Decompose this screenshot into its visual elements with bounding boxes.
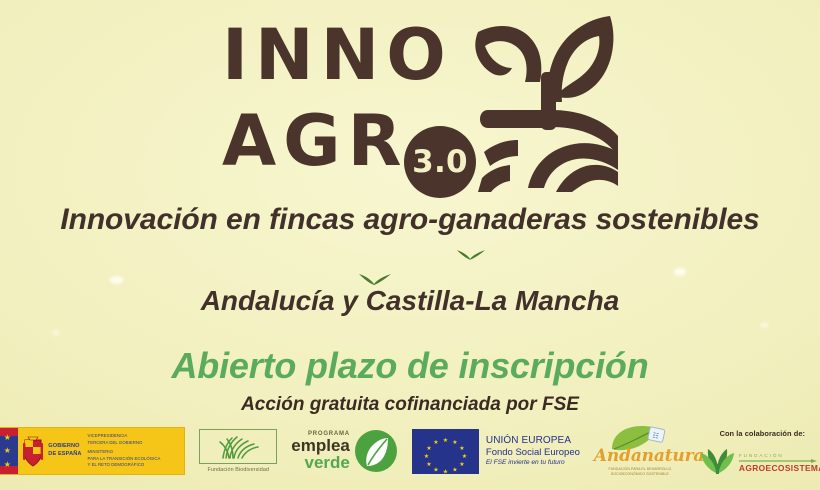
innoagro-logo: INNO AGR 3.0	[0, 8, 820, 198]
grass-icon	[215, 435, 261, 459]
logo-fundacion-agroecosistema: Con la colaboración de: FUNDACIÓN AGROEC…	[700, 429, 820, 474]
agroecosistema-name: AGROECOSISTEMA	[739, 463, 820, 474]
logo-fundacion-biodiversidad: Fundación Biodiversidad	[199, 429, 277, 473]
gobierno-vicepresidencia: VICEPRESIDENCIA TERCERA DEL GOBIERNO	[88, 433, 161, 446]
spain-flag-icon: ★ ★ ★	[0, 428, 18, 474]
logo-gobierno-de-espana: ★ ★ ★ GOBIERNO DE ESPAÑA	[0, 427, 185, 475]
biodiversidad-caption: Fundación Biodiversidad	[199, 467, 277, 473]
logo-union-europea: ★ ★ ★ ★ ★ ★ ★ ★ ★ ★ ★ ★ UN	[412, 429, 580, 474]
sprout-furrow-icon	[468, 10, 620, 192]
sponsor-logo-bar: ★ ★ ★ GOBIERNO DE ESPAÑA	[0, 416, 820, 486]
svg-text:★: ★	[426, 445, 431, 452]
gobierno-ministerio: MINISTERIO PARA LA TRANSICIÓN ECOLÓGICA …	[88, 449, 161, 468]
svg-text:★: ★	[452, 466, 457, 473]
andanatura-name: Andanatura	[594, 448, 686, 465]
decorative-dot	[52, 330, 60, 336]
eu-line-union-europea: UNIÓN EUROPEA	[486, 435, 580, 447]
collaboration-label: Con la colaboración de:	[700, 429, 820, 438]
andanatura-subtitle: FUNDACIÓN PARA EL DESARROLLO SOCIOECONÓM…	[594, 467, 686, 478]
decorative-dot	[110, 276, 123, 284]
svg-text:★: ★	[443, 468, 448, 474]
call-to-action-text: Abierto plazo de inscripción	[0, 345, 820, 387]
agroecosistema-leaves-icon	[700, 440, 736, 474]
eu-flag-icon: ★ ★ ★ ★ ★ ★ ★ ★ ★ ★ ★ ★	[412, 429, 479, 474]
eu-line-fondo-social: Fondo Social Europeo	[486, 447, 580, 459]
svg-text:★: ★	[433, 466, 438, 473]
regions-text: Andalucía y Castilla-La Mancha	[0, 285, 820, 317]
spain-coat-of-arms-icon	[18, 428, 48, 474]
eu-line-slogan: El FSE invierte en tu futuro	[486, 459, 580, 467]
leaf-circle-icon	[354, 429, 398, 473]
funding-note-text: Acción gratuita cofinanciada por FSE	[0, 394, 820, 416]
empleaverde-word-emplea: emplea	[291, 437, 350, 454]
svg-text:★: ★	[452, 439, 457, 446]
svg-text:★: ★	[433, 439, 438, 446]
svg-text:★: ★	[459, 445, 464, 452]
bird-icon	[456, 248, 486, 266]
logo-programa-empleaverde: PROGRAMA emplea verde	[291, 429, 398, 473]
svg-text:★: ★	[426, 461, 431, 468]
gobierno-name: GOBIERNO DE ESPAÑA	[48, 443, 81, 458]
promotional-poster: INNO AGR 3.0	[0, 0, 820, 490]
decorative-dot	[760, 322, 769, 328]
version-badge: 3.0	[404, 126, 476, 198]
logo-word-inno: INNO	[222, 20, 453, 90]
logo-andanatura: ☷ Andanatura FUNDACIÓN PARA EL DESARROLL…	[594, 425, 686, 478]
logo-word-agro: AGR	[222, 106, 409, 176]
subtitle-text: Innovación en fincas agro-ganaderas sost…	[0, 203, 820, 237]
svg-text:★: ★	[459, 461, 464, 468]
decorative-dot	[674, 268, 686, 276]
svg-text:★: ★	[424, 453, 429, 460]
svg-text:★: ★	[462, 453, 467, 460]
svg-text:★: ★	[443, 437, 448, 444]
empleaverde-word-verde: verde	[291, 454, 350, 471]
